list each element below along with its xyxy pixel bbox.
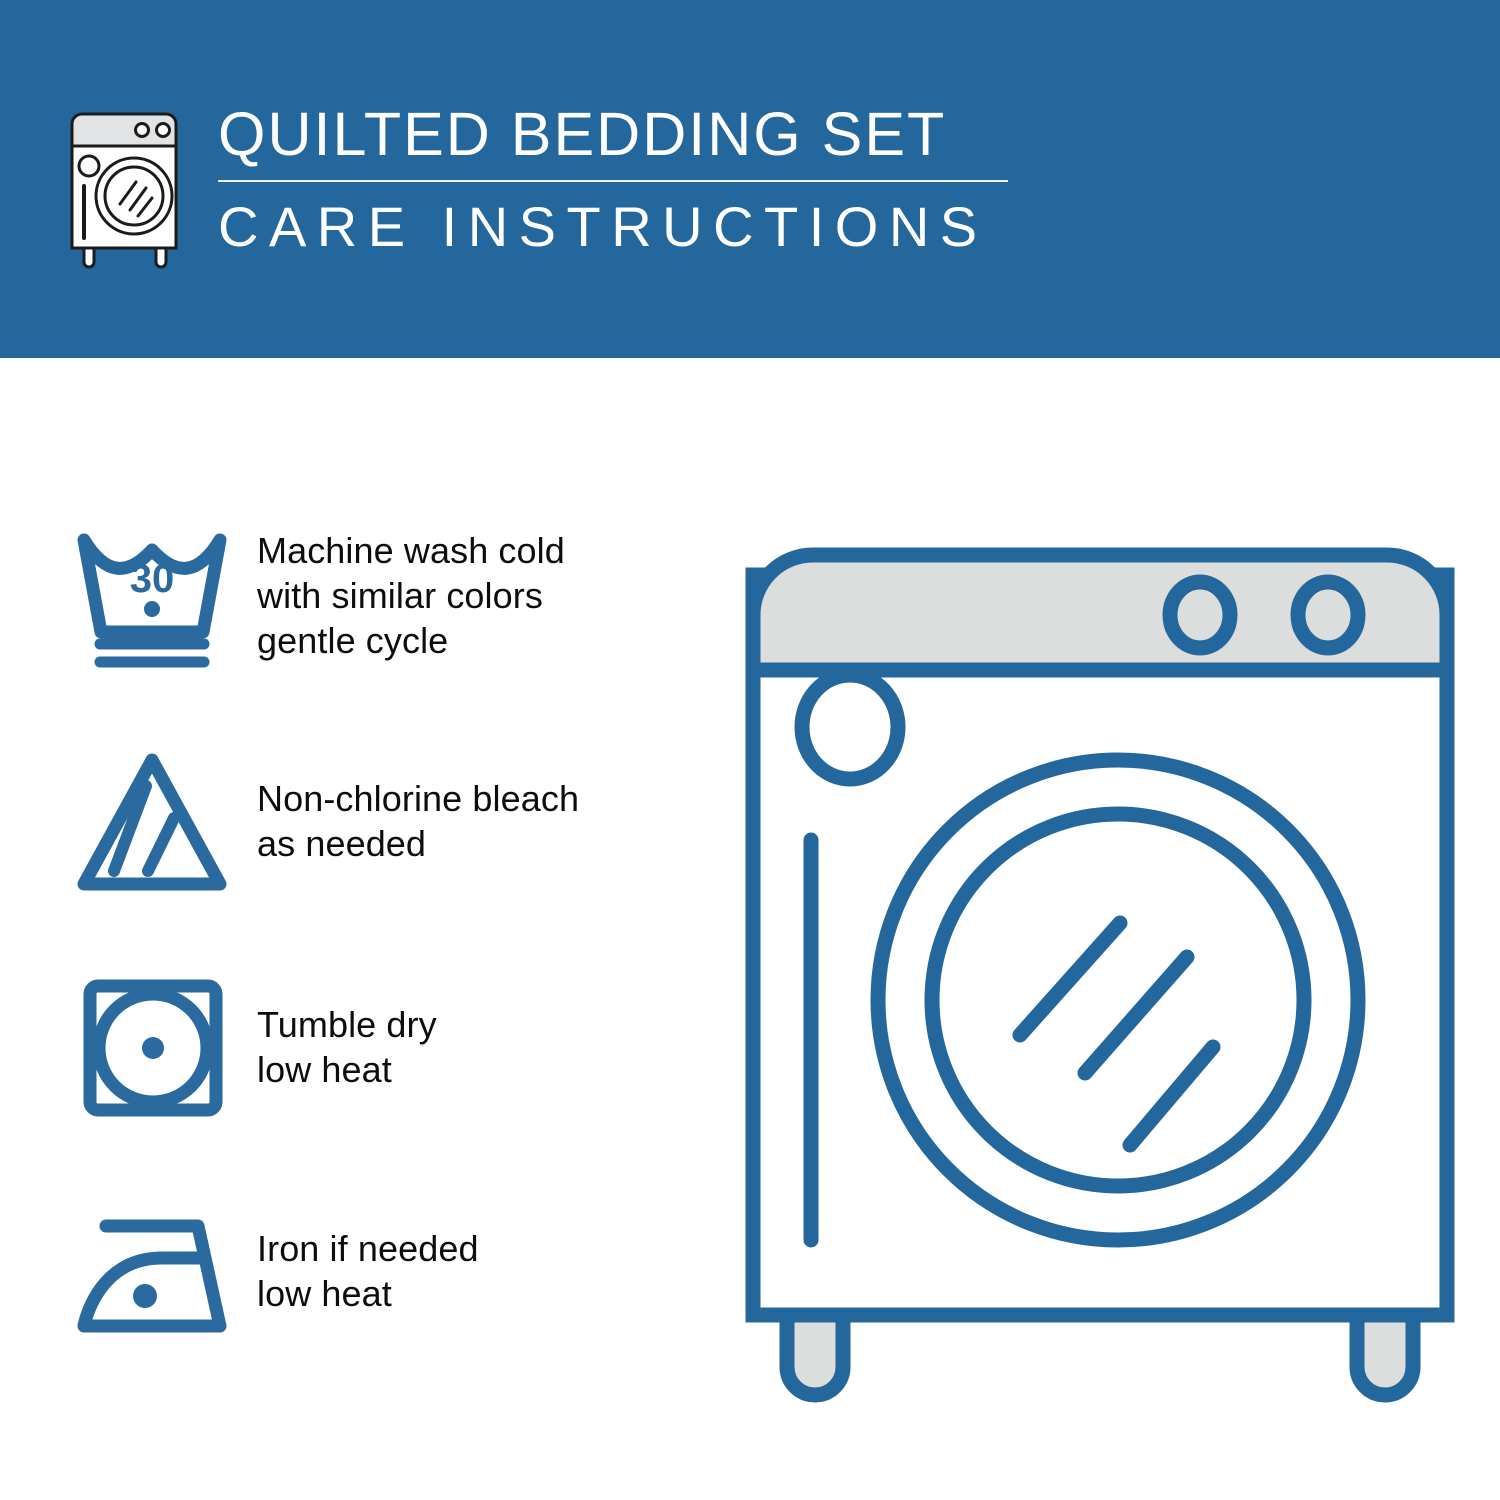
care-text-line: low heat xyxy=(257,1271,479,1316)
care-text-line: with similar colors xyxy=(257,573,565,618)
care-item-tumble-dry: Tumble dry low heat xyxy=(70,962,710,1132)
wash-temperature-value: 30 xyxy=(130,557,175,601)
tumble-dry-low-heat-icon xyxy=(70,972,235,1122)
care-text-line: Tumble dry xyxy=(257,1002,437,1047)
washing-machine-illustration xyxy=(735,495,1465,1420)
header-banner: QUILTED BEDDING SET CARE INSTRUCTIONS xyxy=(0,0,1500,358)
header-text-block: QUILTED BEDDING SET CARE INSTRUCTIONS xyxy=(218,100,1018,258)
washer-leg-left xyxy=(787,1315,843,1395)
care-item-text: Machine wash cold with similar colors ge… xyxy=(257,528,565,663)
washer-detergent-port xyxy=(802,675,898,779)
care-text-line: Machine wash cold xyxy=(257,528,565,573)
care-item-text: Non-chlorine bleach as needed xyxy=(257,776,579,866)
wash-tub-30-gentle-icon: 30 xyxy=(70,520,235,670)
care-text-line: low heat xyxy=(257,1047,437,1092)
care-instructions-page: QUILTED BEDDING SET CARE INSTRUCTIONS 30 xyxy=(0,0,1500,1500)
care-item-text: Tumble dry low heat xyxy=(257,1002,437,1092)
iron-low-heat-icon xyxy=(70,1196,235,1346)
washing-machine-icon xyxy=(62,104,190,269)
non-chlorine-bleach-triangle-icon xyxy=(70,746,235,896)
page-title: QUILTED BEDDING SET xyxy=(218,100,1018,168)
washer-knob-right xyxy=(1298,582,1358,648)
care-instruction-list: 30 Machine wash cold with similar colors… xyxy=(0,358,720,1500)
washer-leg-right xyxy=(1357,1315,1413,1395)
care-text-line: as needed xyxy=(257,821,579,866)
title-divider xyxy=(218,180,1008,182)
care-item-text: Iron if needed low heat xyxy=(257,1226,479,1316)
care-item-bleach: Non-chlorine bleach as needed xyxy=(70,736,710,906)
care-text-line: Iron if needed xyxy=(257,1226,479,1271)
care-text-line: Non-chlorine bleach xyxy=(257,776,579,821)
care-item-machine-wash: 30 Machine wash cold with similar colors… xyxy=(70,510,710,680)
washer-knob-left xyxy=(1170,582,1230,648)
care-item-iron: Iron if needed low heat xyxy=(70,1186,710,1356)
care-text-line: gentle cycle xyxy=(257,618,565,663)
page-subtitle: CARE INSTRUCTIONS xyxy=(218,196,1018,258)
